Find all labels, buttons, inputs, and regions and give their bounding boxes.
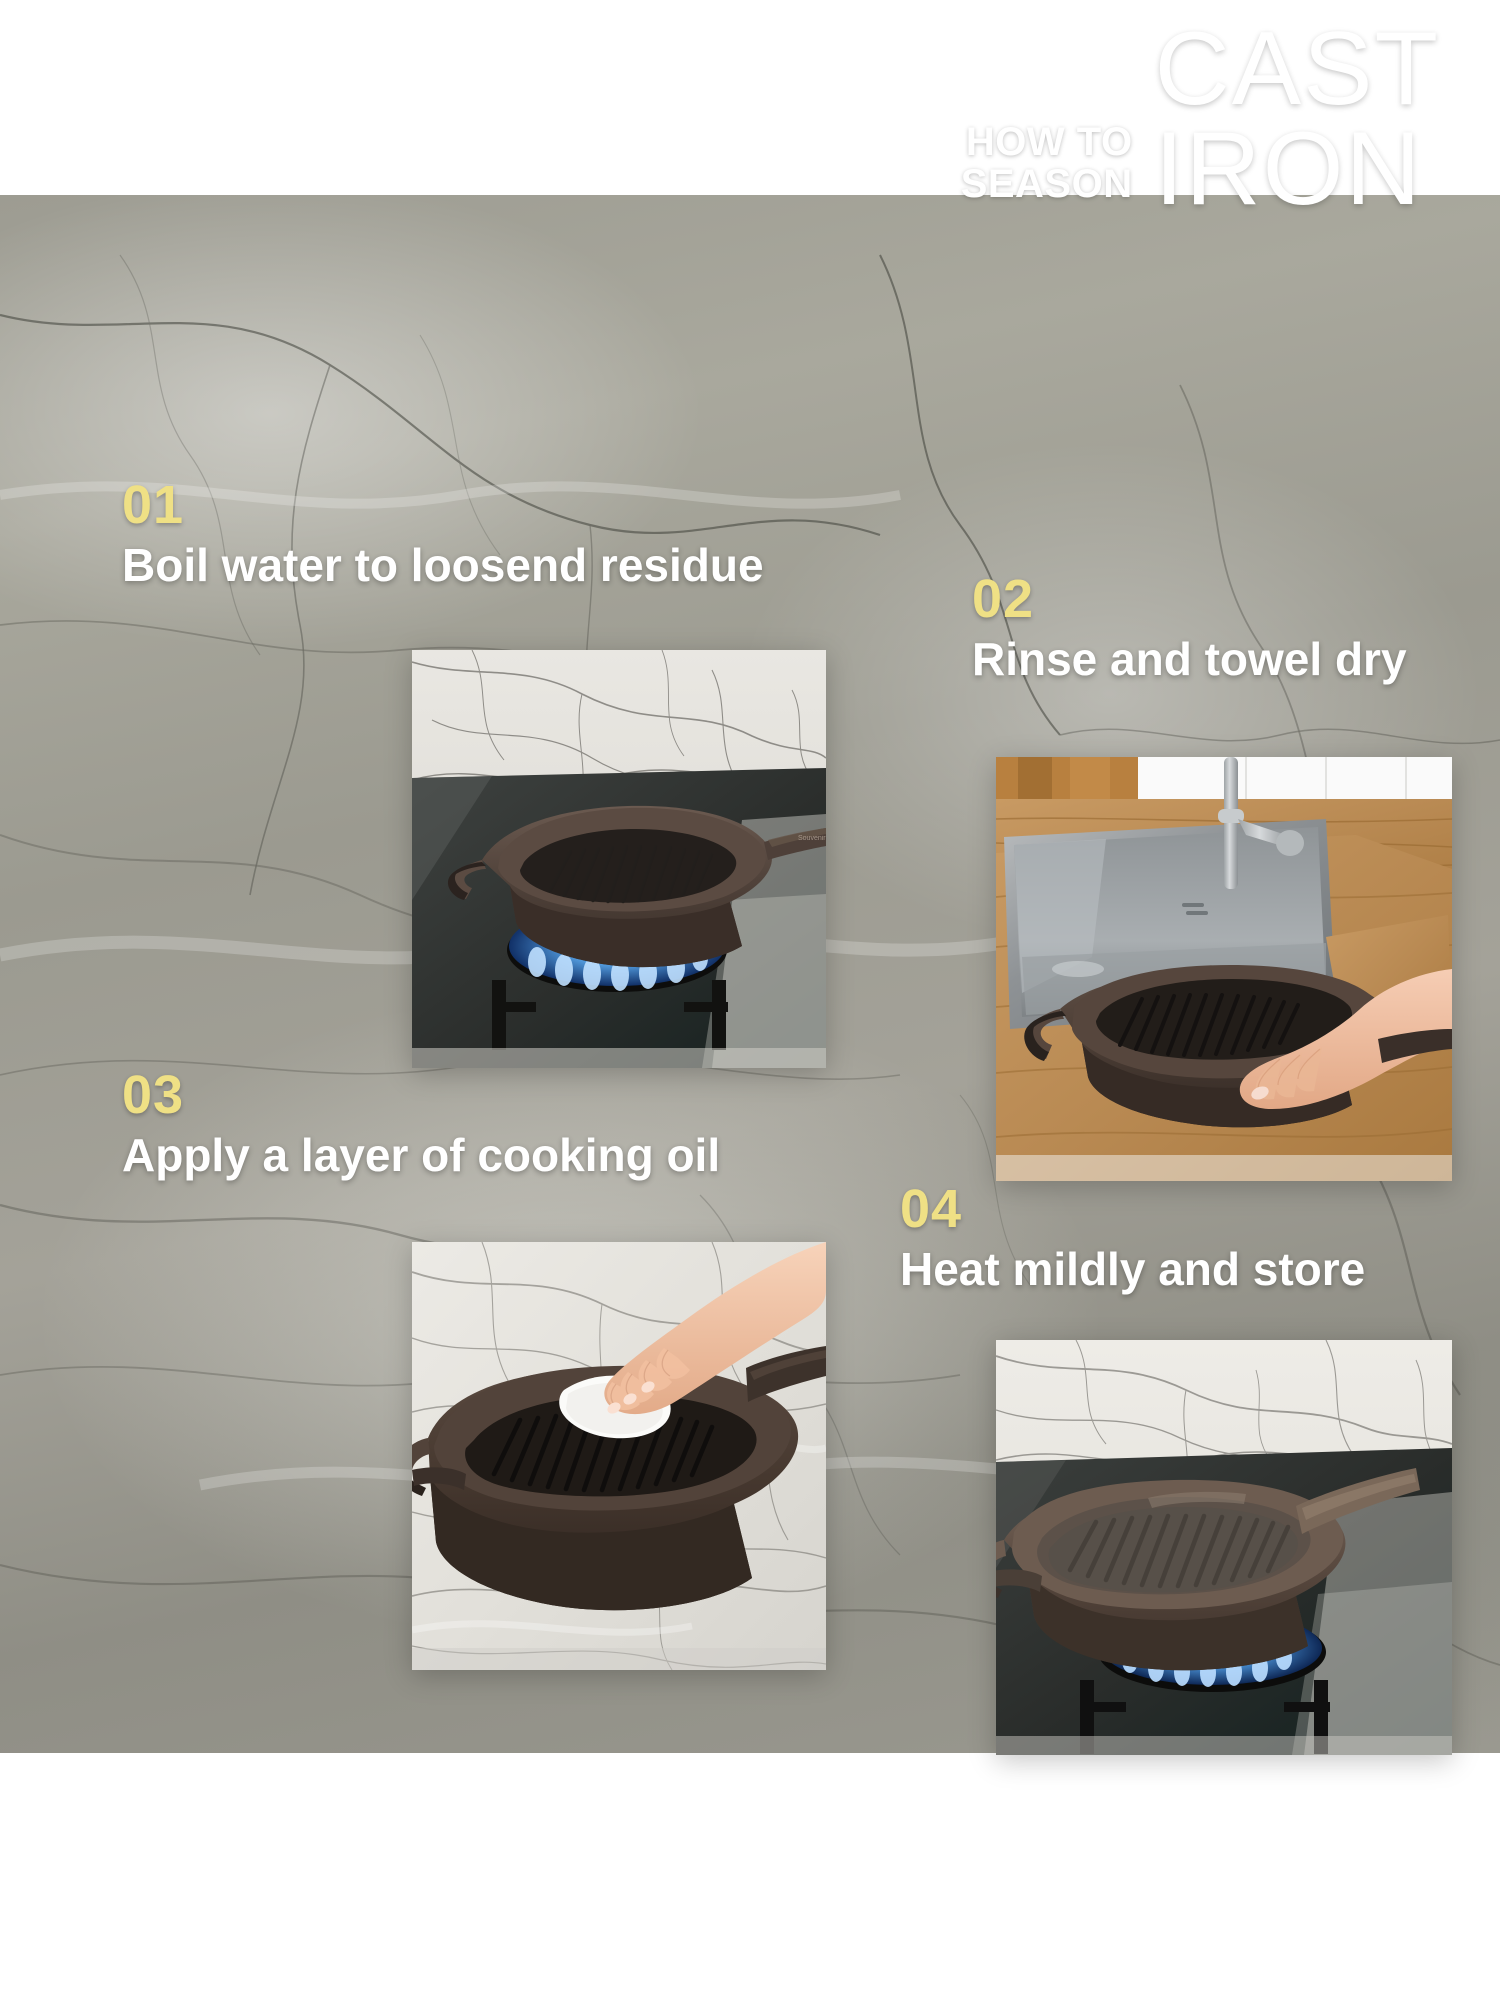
step-03-caption: Apply a layer of cooking oil (122, 1130, 720, 1181)
kicker-line-1: HOW TO (961, 121, 1133, 163)
title-cast-iron: CAST IRON (1155, 20, 1440, 220)
infographic-poster: HOW TO SEASON CAST IRON 01 Boil water to… (0, 0, 1500, 2000)
step-01-caption: Boil water to loosend residue (122, 540, 764, 591)
step-04-number: 04 (900, 1182, 1365, 1236)
kicker-line-2: SEASON (961, 163, 1133, 205)
step-01-photo: Souvenir (412, 650, 826, 1068)
step-02-number: 02 (972, 572, 1407, 626)
title-line-iron: IRON (1155, 120, 1440, 220)
step-03-number: 03 (122, 1068, 720, 1122)
poster-header: HOW TO SEASON CAST IRON (961, 20, 1440, 220)
svg-text:Souvenir: Souvenir (798, 835, 826, 842)
step-04: 04 Heat mildly and store (900, 1182, 1365, 1295)
step-04-photo (996, 1340, 1452, 1755)
step-04-caption: Heat mildly and store (900, 1244, 1365, 1295)
step-03: 03 Apply a layer of cooking oil (122, 1068, 720, 1181)
step-01-number: 01 (122, 478, 764, 532)
step-02: 02 Rinse and towel dry (972, 572, 1407, 685)
step-03-photo (412, 1242, 826, 1670)
step-02-caption: Rinse and towel dry (972, 634, 1407, 685)
title-line-cast: CAST (1155, 20, 1440, 120)
step-02-photo (996, 757, 1452, 1181)
kicker-how-to-season: HOW TO SEASON (961, 121, 1133, 220)
step-01: 01 Boil water to loosend residue (122, 478, 764, 591)
